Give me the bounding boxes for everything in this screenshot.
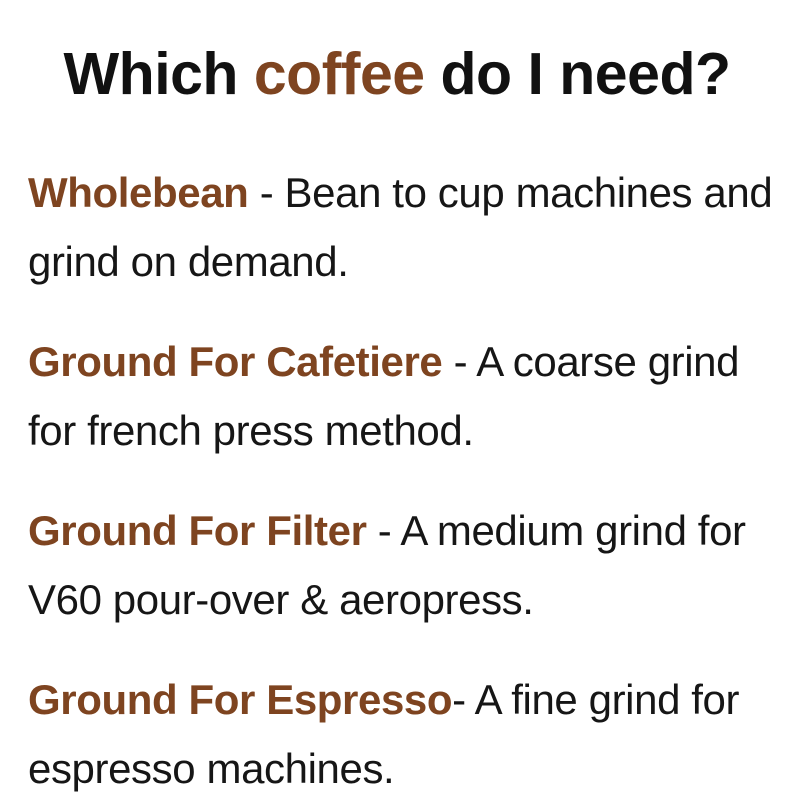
coffee-grind-guide-poster: Which coffee do I need? Wholebean - Bean… <box>0 0 794 794</box>
list-item-term: Ground For Cafetiere <box>28 338 442 385</box>
grind-type-list: Wholebean - Bean to cup machines and gri… <box>28 158 774 803</box>
page-title-prefix: Which <box>63 41 253 107</box>
list-item-term: Ground For Filter <box>28 507 367 554</box>
list-item: Ground For Filter - A medium grind for V… <box>28 496 774 634</box>
page-title: Which coffee do I need? <box>0 38 794 110</box>
page-title-text: Which coffee do I need? <box>0 38 794 110</box>
list-item: Ground For Cafetiere - A coarse grind fo… <box>28 327 774 465</box>
list-item-term: Ground For Espresso <box>28 676 452 723</box>
page-title-suffix: do I need? <box>425 41 731 107</box>
list-item: Ground For Espresso- A fine grind for es… <box>28 665 774 803</box>
list-item-term: Wholebean <box>28 169 248 216</box>
page-title-accent-word: coffee <box>254 41 425 107</box>
list-item: Wholebean - Bean to cup machines and gri… <box>28 158 774 296</box>
